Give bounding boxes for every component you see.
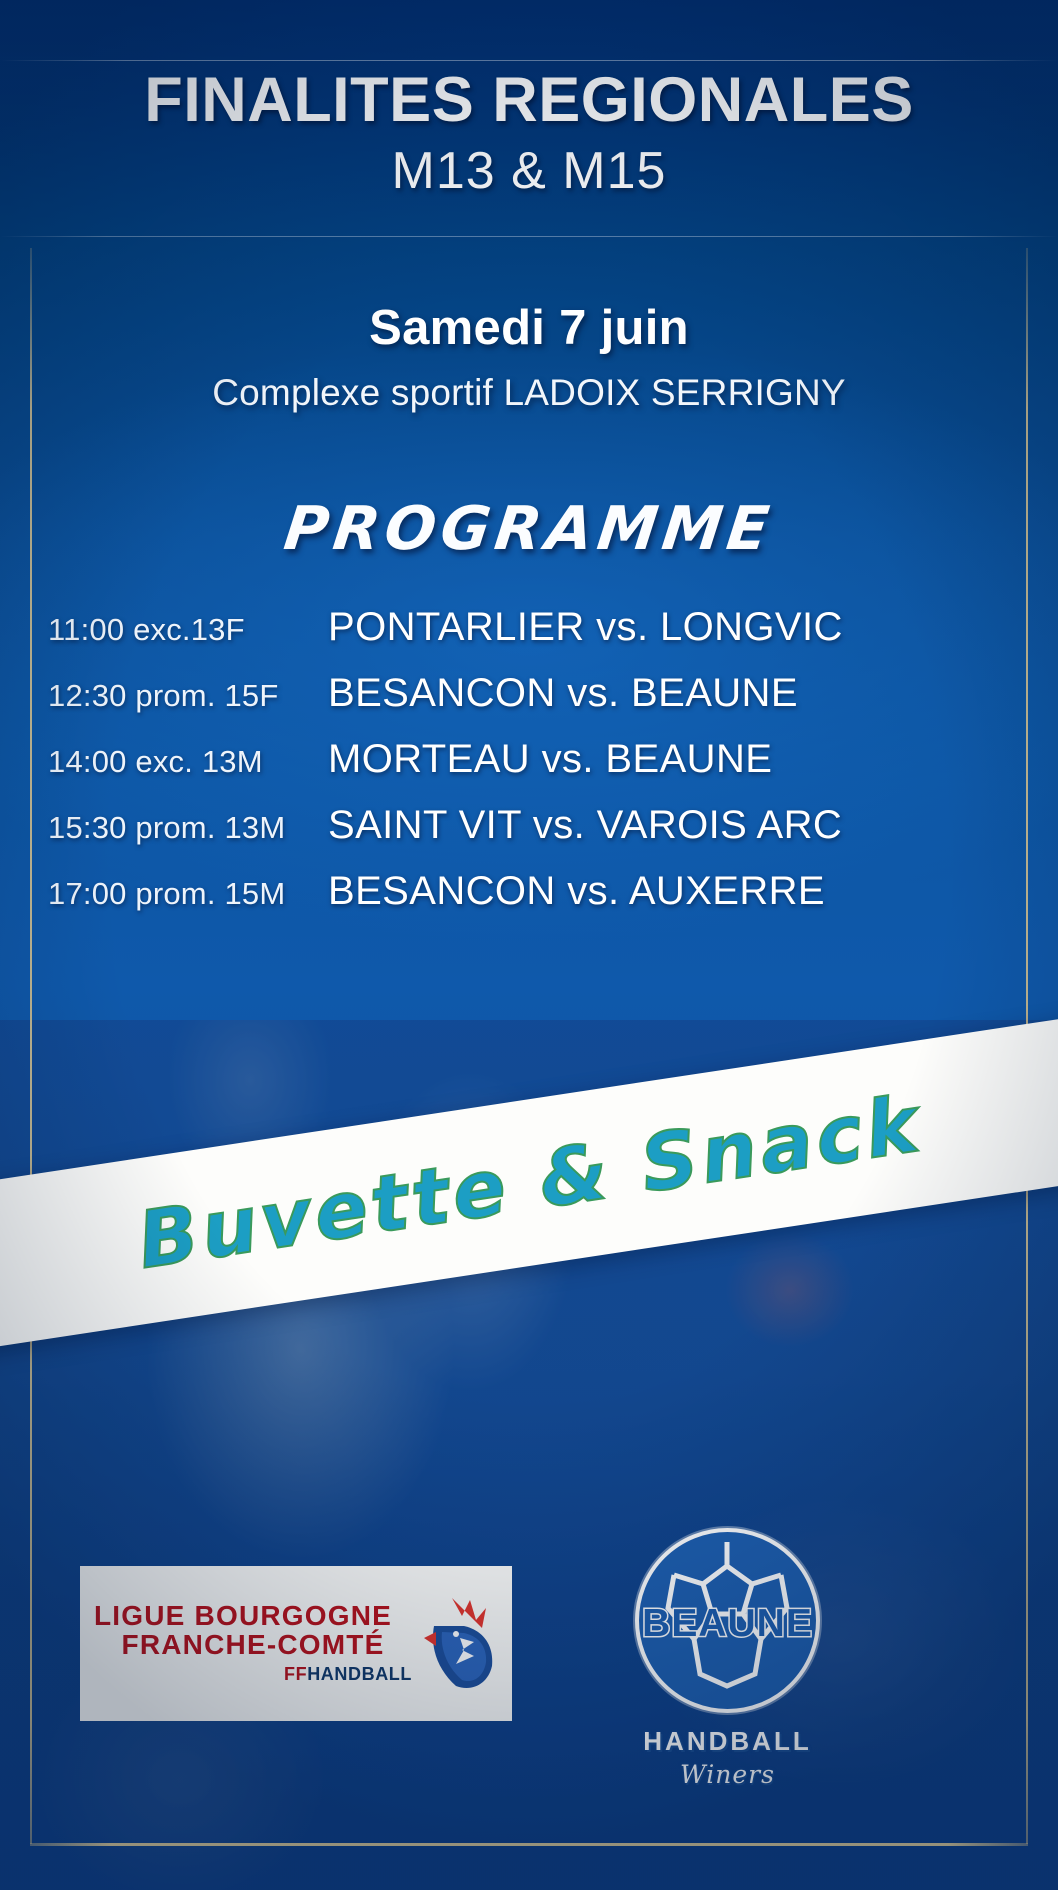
event-info-block: Samedi 7 juin Complexe sportif LADOIX SE…: [0, 300, 1058, 414]
schedule-match: SAINT VIT vs. VAROIS ARC: [328, 803, 1010, 848]
logo-ligue-bourgogne-franche-comte: LIGUE BOURGOGNE FRANCHE-COMTÉ FFHANDBALL: [80, 1566, 512, 1721]
page-subtitle: M13 & M15: [0, 142, 1058, 200]
schedule-time: 14:00 exc. 13M: [48, 744, 328, 780]
schedule-list: 11:00 exc.13F PONTARLIER vs. LONGVIC 12:…: [48, 605, 1010, 935]
ligue-logo-text: LIGUE BOURGOGNE FRANCHE-COMTÉ FFHANDBALL: [94, 1602, 412, 1686]
schedule-match: MORTEAU vs. BEAUNE: [328, 737, 1010, 782]
beaune-handball-text: HANDBALL: [620, 1726, 835, 1757]
schedule-time: 12:30 prom. 15F: [48, 678, 328, 714]
rooster-icon: [412, 1592, 498, 1696]
schedule-match: BESANCON vs. AUXERRE: [328, 869, 1010, 914]
schedule-row: 14:00 exc. 13M MORTEAU vs. BEAUNE: [48, 737, 1010, 782]
schedule-match: BESANCON vs. BEAUNE: [328, 671, 1010, 716]
schedule-row: 17:00 prom. 15M BESANCON vs. AUXERRE: [48, 869, 1010, 914]
programme-heading: PROGRAMME: [0, 494, 1058, 564]
ff-text: FF: [284, 1664, 307, 1684]
schedule-match: PONTARLIER vs. LONGVIC: [328, 605, 1010, 650]
handball-ball-icon: BEAUNE: [635, 1528, 820, 1713]
beaune-tagline: Winers: [620, 1760, 835, 1789]
beaune-wordmark: BEAUNE: [621, 1602, 834, 1646]
logo-beaune-handball: BEAUNE HANDBALL Winers: [620, 1528, 835, 1808]
ligue-line-2: FRANCHE-COMTÉ: [94, 1630, 412, 1660]
event-venue: Complexe sportif LADOIX SERRIGNY: [0, 372, 1058, 414]
poster: FINALITES REGIONALES M13 & M15 Samedi 7 …: [0, 0, 1058, 1890]
frame-rule-bottom: [30, 1843, 1028, 1846]
schedule-time: 11:00 exc.13F: [48, 612, 328, 648]
ffhandball-wordmark: FFHANDBALL: [94, 1664, 412, 1685]
divider-header: [0, 236, 1058, 237]
schedule-time: 17:00 prom. 15M: [48, 876, 328, 912]
page-title: FINALITES REGIONALES: [0, 68, 1058, 134]
schedule-row: 11:00 exc.13F PONTARLIER vs. LONGVIC: [48, 605, 1010, 650]
divider-top: [0, 60, 1058, 61]
header-block: FINALITES REGIONALES M13 & M15: [0, 68, 1058, 200]
schedule-time: 15:30 prom. 13M: [48, 810, 328, 846]
schedule-row: 15:30 prom. 13M SAINT VIT vs. VAROIS ARC: [48, 803, 1010, 848]
schedule-row: 12:30 prom. 15F BESANCON vs. BEAUNE: [48, 671, 1010, 716]
frame-rule-left: [30, 248, 32, 1844]
handball-text: HANDBALL: [307, 1664, 412, 1684]
ligue-line-1: LIGUE BOURGOGNE: [94, 1602, 412, 1631]
event-date: Samedi 7 juin: [0, 300, 1058, 356]
